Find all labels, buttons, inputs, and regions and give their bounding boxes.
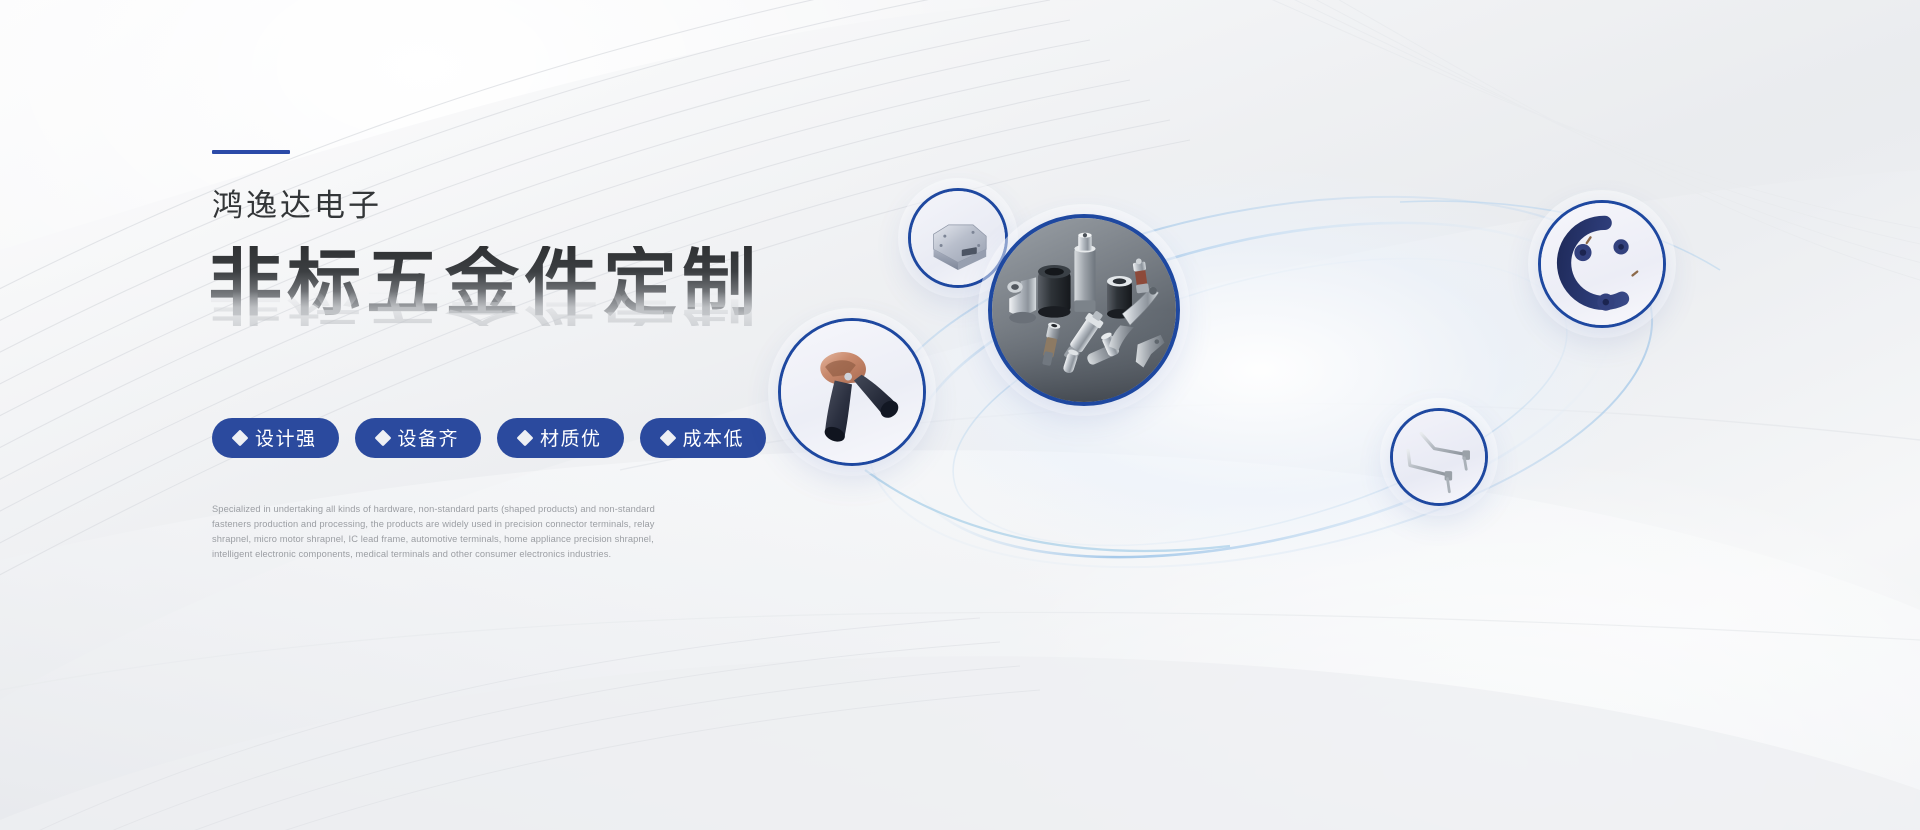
feature-tag-cost[interactable]: 成本低	[640, 418, 767, 458]
hero-text-column: 鸿逸达电子 非标五金件定制 非标五金件定制 设计强 设备齐 材质优 成本低	[212, 150, 832, 562]
company-description: Specialized in undertaking all kinds of …	[212, 502, 672, 562]
feature-tag-material[interactable]: 材质优	[497, 418, 624, 458]
brand-name: 鸿逸达电子	[212, 188, 832, 224]
product-circle-bent-terminal-pins[interactable]	[1390, 408, 1488, 506]
feature-tag-label: 设计强	[255, 424, 317, 451]
feature-tag-list: 设计强 设备齐 材质优 成本低	[212, 418, 832, 458]
product-showcase	[760, 110, 1760, 630]
feature-tag-label: 设备齐	[398, 424, 460, 451]
product-circle-precision-hardware-parts[interactable]	[988, 214, 1180, 406]
diamond-icon	[232, 429, 249, 446]
product-circle-blue-retaining-clip[interactable]	[1538, 200, 1666, 328]
diamond-icon	[659, 429, 676, 446]
diamond-icon	[517, 429, 534, 446]
page-title: 非标五金件定制	[208, 246, 832, 320]
hero-banner: 鸿逸达电子 非标五金件定制 非标五金件定制 设计强 设备齐 材质优 成本低	[0, 0, 1920, 830]
diamond-icon	[374, 429, 391, 446]
feature-tag-design[interactable]: 设计强	[212, 418, 339, 458]
feature-tag-label: 成本低	[683, 424, 745, 451]
feature-tag-label: 材质优	[540, 424, 602, 451]
product-circle-copper-battery-clamp[interactable]	[778, 318, 926, 466]
headline-block: 非标五金件定制 非标五金件定制	[208, 246, 832, 370]
accent-rule	[212, 150, 290, 154]
feature-tag-equipment[interactable]: 设备齐	[355, 418, 482, 458]
